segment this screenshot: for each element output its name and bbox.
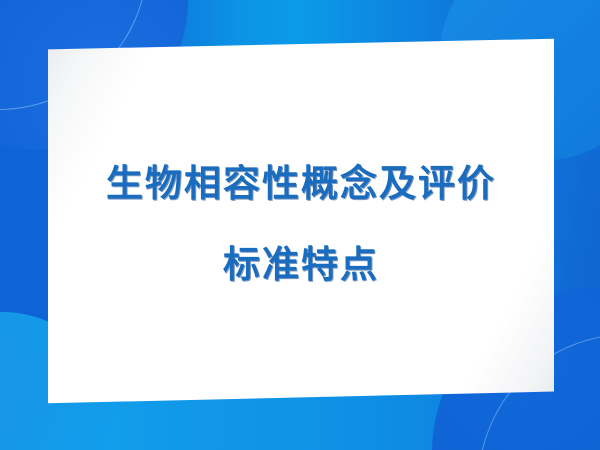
title-line-1: 生物相容性概念及评价: [48, 165, 554, 202]
title-line-2: 标准特点: [48, 246, 554, 283]
slide-title: 生物相容性概念及评价 标准特点: [48, 165, 554, 283]
panel-inner: 生物相容性概念及评价 标准特点: [48, 38, 554, 404]
white-content-panel: 生物相容性概念及评价 标准特点: [48, 38, 554, 404]
title-slide: 生物相容性概念及评价 标准特点: [0, 0, 600, 450]
